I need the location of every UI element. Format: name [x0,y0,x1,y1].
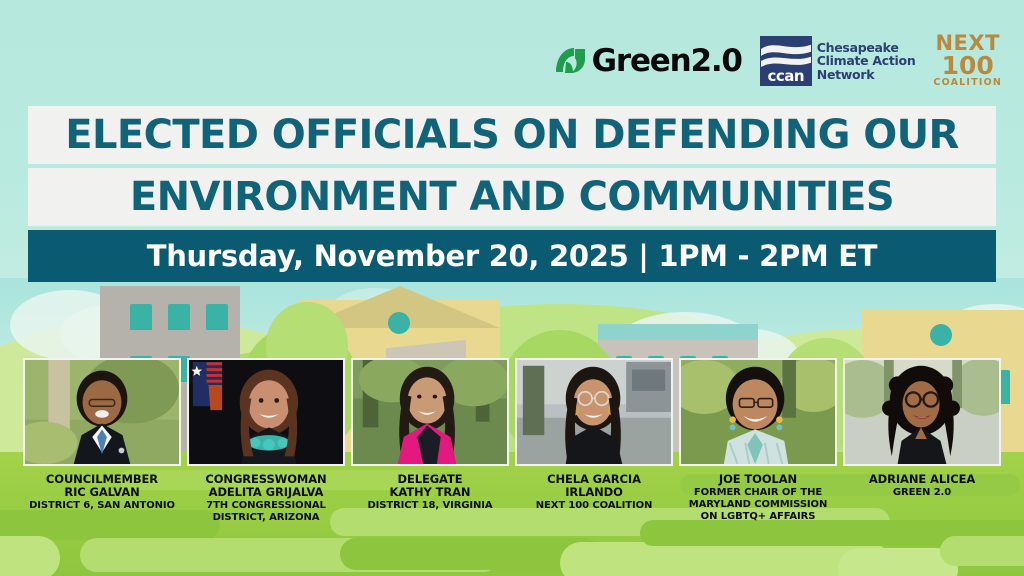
speaker-role-line: DISTRICT 18, VIRGINIA [346,500,514,511]
green-2-0-leaf-icon [554,46,588,76]
speaker-photo-adriane-alicea [843,358,1001,466]
ccan-logo[interactable]: ccan Chesapeake Climate Action Network [760,36,916,86]
speaker-name-line: CONGRESSWOMAN [182,473,350,486]
ccan-name-text: Chesapeake Climate Action Network [817,41,916,81]
speaker-role-line: ON LGBTQ+ AFFAIRS [674,511,842,522]
title-line-1-band: ELECTED OFFICIALS ON DEFENDING OUR [28,106,996,164]
speaker-role-line: 7TH CONGRESSIONAL [182,500,350,511]
speaker-role-line: MARYLAND COMMISSION [674,499,842,510]
speaker-caption: CHELA GARCIA IRLANDO NEXT 100 COALITION [510,473,678,511]
portrait-illustration [845,360,999,464]
portrait-illustration [25,360,179,464]
window-shape [168,304,190,330]
speaker-name-line: CHELA GARCIA [510,473,678,486]
ccan-line-2: Climate Action [817,54,916,67]
title-line-2-band: ENVIRONMENT AND COMMUNITIES [28,168,996,226]
speaker-role-line: GREEN 2.0 [838,487,1006,498]
speaker-caption: ADRIANE ALICEA GREEN 2.0 [838,473,1006,498]
speaker-card: ADRIANE ALICEA GREEN 2.0 [843,358,1001,523]
next-100-line-2: 100 [942,54,994,77]
speaker-card: CONGRESSWOMAN ADELITA GRIJALVA 7TH CONGR… [187,358,345,523]
building-awning [598,324,758,340]
green-2-0-logo[interactable]: Green2.0 [554,46,742,77]
speaker-caption: JOE TOOLAN FORMER CHAIR OF THE MARYLAND … [674,473,842,522]
speaker-caption: DELEGATE KATHY TRAN DISTRICT 18, VIRGINI… [346,473,514,511]
ccan-line-3: Network [817,68,916,81]
speaker-card: JOE TOOLAN FORMER CHAIR OF THE MARYLAND … [679,358,837,523]
speaker-name-line: COUNCILMEMBER [18,473,186,486]
blob-shape [940,536,1024,566]
speaker-caption: COUNCILMEMBER RIC GALVAN DISTRICT 6, SAN… [18,473,186,511]
speaker-photo-kathy-tran [351,358,509,466]
next-100-line-3: COALITION [933,79,1002,88]
speaker-card: CHELA GARCIA IRLANDO NEXT 100 COALITION [515,358,673,523]
ccan-mark-icon: ccan [760,36,812,86]
next-100-coalition-logo[interactable]: NEXT 100 COALITION [933,34,1002,87]
speaker-photo-adelita-grijalva [187,358,345,466]
event-date-text: Thursday, November 20, 2025 | 1PM - 2PM … [147,239,878,273]
speaker-name-line: IRLANDO [510,486,678,499]
speaker-name-line: RIC GALVAN [18,486,186,499]
speaker-role-line: DISTRICT 6, SAN ANTONIO [18,500,186,511]
speaker-name-line: ADELITA GRIJALVA [182,486,350,499]
speaker-card: DELEGATE KATHY TRAN DISTRICT 18, VIRGINI… [351,358,509,523]
partner-logos: Green2.0 ccan Chesapeake Climate Action … [554,30,1002,92]
portrait-illustration [517,360,671,464]
speaker-name-line: JOE TOOLAN [674,473,842,486]
green-2-0-wordmark: Green2.0 [592,46,742,77]
event-date-band: Thursday, November 20, 2025 | 1PM - 2PM … [28,230,996,282]
window-shape [130,304,152,330]
speaker-photo-chela-garcia-irlando [515,358,673,466]
ccan-acronym: ccan [761,69,811,84]
speaker-role-line: FORMER CHAIR OF THE [674,487,842,498]
portrait-illustration [189,360,343,464]
speaker-photo-joe-toolan [679,358,837,466]
speaker-name-line: KATHY TRAN [346,486,514,499]
speakers-row: COUNCILMEMBER RIC GALVAN DISTRICT 6, SAN… [0,358,1024,523]
speaker-name-line: DELEGATE [346,473,514,486]
window-shape [206,304,228,330]
page-title-line-1: ELECTED OFFICIALS ON DEFENDING OUR [65,112,958,158]
page-title-line-2: ENVIRONMENT AND COMMUNITIES [130,174,894,220]
speaker-role-line: NEXT 100 COALITION [510,500,678,511]
ccan-line-1: Chesapeake [817,41,916,54]
portrait-illustration [353,360,507,464]
speaker-photo-ric-galvan [23,358,181,466]
blob-shape [0,536,60,576]
event-flyer: Green2.0 ccan Chesapeake Climate Action … [0,0,1024,576]
building-oculus [930,324,952,346]
speaker-card: COUNCILMEMBER RIC GALVAN DISTRICT 6, SAN… [23,358,181,523]
speaker-role-line: DISTRICT, ARIZONA [182,512,350,523]
courthouse-oculus [388,312,410,334]
speaker-caption: CONGRESSWOMAN ADELITA GRIJALVA 7TH CONGR… [182,473,350,523]
portrait-illustration [681,360,835,464]
speaker-name-line: ADRIANE ALICEA [838,473,1006,486]
